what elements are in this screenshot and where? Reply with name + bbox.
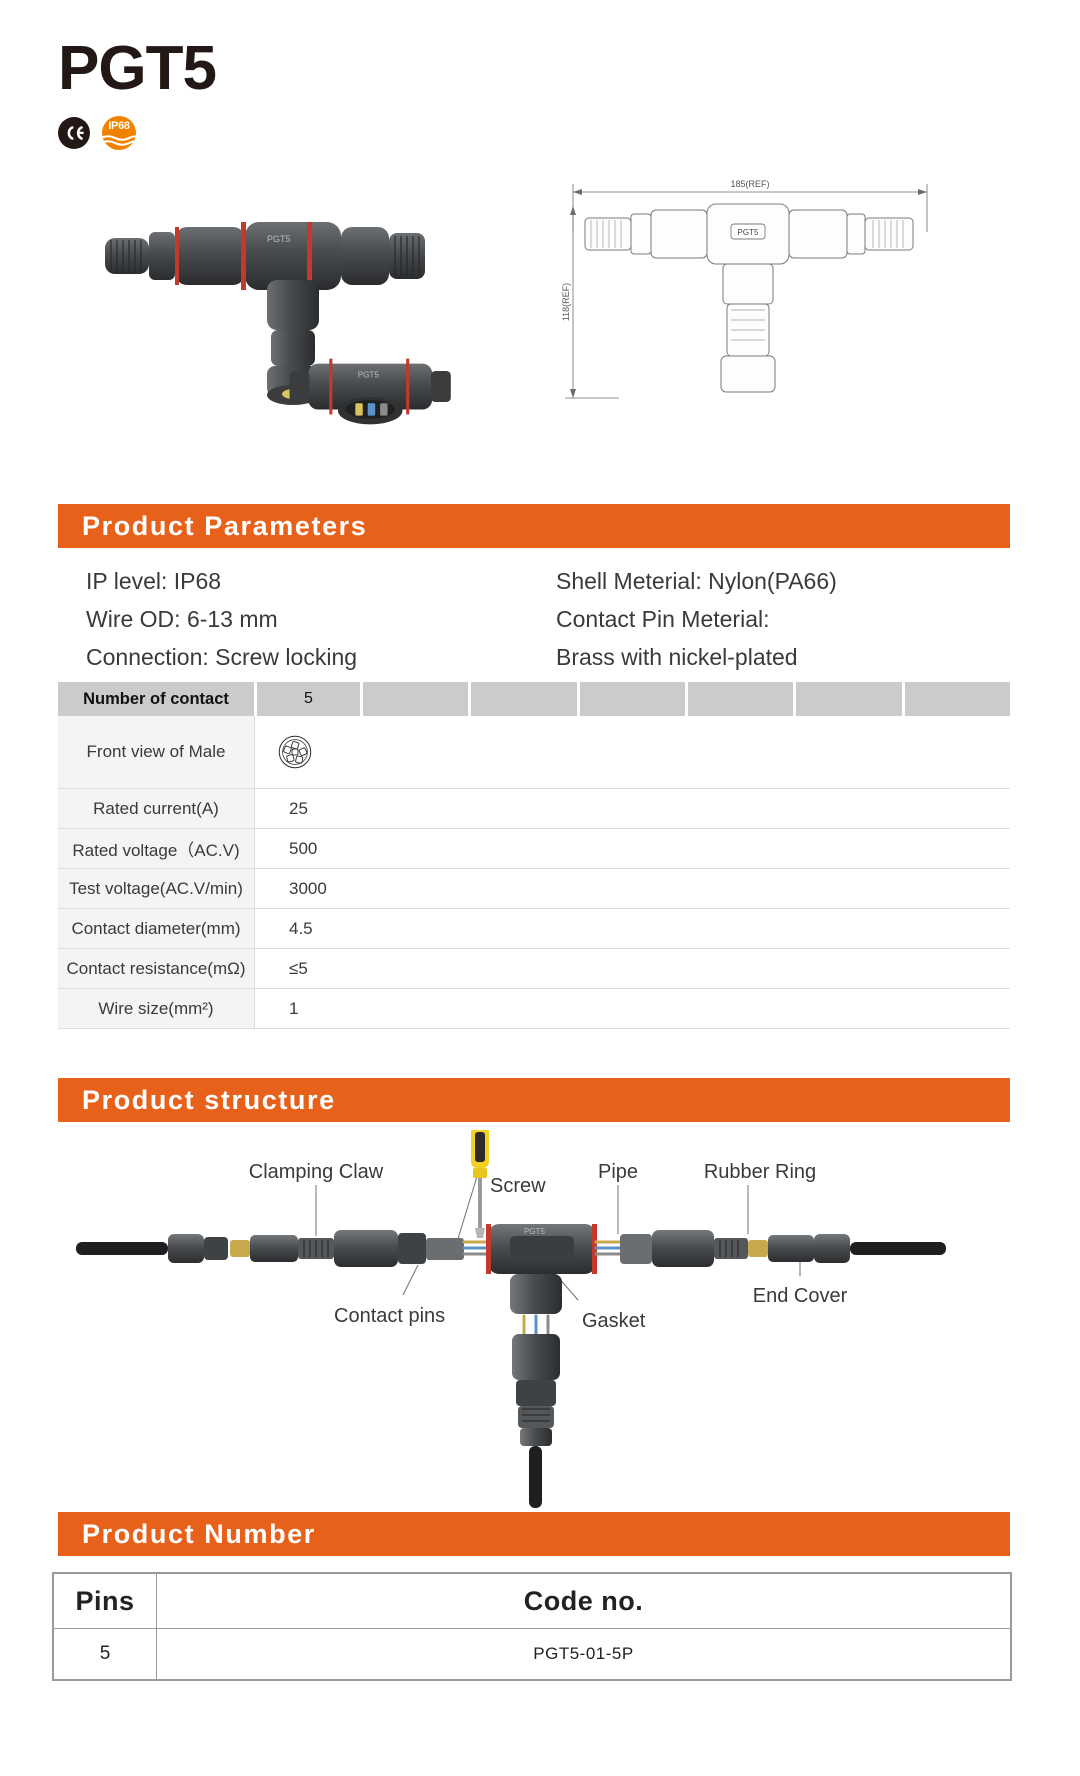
table-row: 5 PGT5-01-5P xyxy=(54,1629,1011,1680)
param-connection: Connection: Screw locking xyxy=(58,638,528,676)
header-empty-cell xyxy=(905,682,1010,716)
table-row: Rated voltage（AC.V) 500 xyxy=(58,829,1010,869)
row-value-front-view xyxy=(255,716,1010,788)
header-empty-cell xyxy=(796,682,901,716)
header-contact-count: 5 xyxy=(257,682,360,716)
section-header-parameters: Product Parameters xyxy=(58,504,1010,548)
param-shell-material: Shell Meterial: Nylon(PA66) xyxy=(528,562,1010,600)
svg-text:PGT5: PGT5 xyxy=(358,370,380,379)
table-row: Contact resistance(mΩ) ≤5 xyxy=(58,949,1010,989)
callout-clamping-claw: Clamping Claw xyxy=(249,1161,384,1183)
ip68-label: IP68 xyxy=(102,120,136,132)
dimension-drawing: 185(REF) 118(REF) xyxy=(555,170,955,420)
row-label-wire-size: Wire size(mm²) xyxy=(58,989,255,1028)
row-value-rated-voltage: 500 xyxy=(255,829,1010,868)
param-contact-pin-material-cont: Brass with nickel-plated xyxy=(528,638,1010,676)
structure-diagram: PGT5 xyxy=(58,1130,1010,1510)
callout-pipe: Pipe xyxy=(598,1161,638,1183)
svg-text:PGT5: PGT5 xyxy=(524,1227,545,1236)
structure-illustration: PGT5 xyxy=(58,1130,1010,1510)
table-row: Test voltage(AC.V/min) 3000 xyxy=(58,869,1010,909)
title-block: PGT5 IP68 xyxy=(58,38,216,150)
row-value-contact-diameter: 4.5 xyxy=(255,909,1010,948)
cell-code-no: PGT5-01-5P xyxy=(157,1629,1011,1680)
ce-icon xyxy=(58,117,90,149)
certification-badges: IP68 xyxy=(58,116,216,150)
product-number-header-row: Pins Code no. xyxy=(54,1574,1011,1629)
cell-pins: 5 xyxy=(54,1629,157,1680)
page-title: PGT5 xyxy=(58,38,216,100)
row-value-wire-size: 1 xyxy=(255,989,1010,1028)
header-empty-cell xyxy=(580,682,685,716)
callout-rubber-ring: Rubber Ring xyxy=(704,1161,816,1183)
row-label-rated-voltage: Rated voltage（AC.V) xyxy=(58,829,255,868)
header-empty-cell xyxy=(471,682,576,716)
param-wire-od: Wire OD: 6-13 mm xyxy=(58,600,528,638)
callout-contact-pins: Contact pins xyxy=(334,1305,445,1327)
column-header-pins: Pins xyxy=(54,1574,157,1629)
screwdriver-icon xyxy=(471,1130,489,1238)
callout-end-cover: End Cover xyxy=(753,1285,848,1307)
drawing-body-mark: PGT5 xyxy=(738,228,759,237)
row-value-rated-current: 25 xyxy=(255,789,1010,828)
section-title-parameters: Product Parameters xyxy=(58,511,367,542)
row-label-contact-diameter: Contact diameter(mm) xyxy=(58,909,255,948)
ip68-icon: IP68 xyxy=(102,116,136,150)
header-empty-cell xyxy=(363,682,468,716)
section-title-structure: Product structure xyxy=(58,1085,336,1116)
row-value-contact-resistance: ≤5 xyxy=(255,949,1010,988)
row-label-front-view: Front view of Male xyxy=(58,716,255,788)
product-photo: PGT5 PGT5 xyxy=(45,180,485,450)
contacts-table-header-row: Number of contact 5 xyxy=(58,682,1010,716)
table-row: Front view of Male xyxy=(58,716,1010,789)
contacts-table: Number of contact 5 Front view of Male xyxy=(58,682,1010,1029)
row-label-contact-resistance: Contact resistance(mΩ) xyxy=(58,949,255,988)
table-row: Contact diameter(mm) 4.5 xyxy=(58,909,1010,949)
section-header-number: Product Number xyxy=(58,1512,1010,1556)
datasheet-page: PGT5 IP68 xyxy=(0,0,1080,1776)
table-row: Rated current(A) 25 xyxy=(58,789,1010,829)
section-header-structure: Product structure xyxy=(58,1078,1010,1122)
parameters-list: IP level: IP68 Shell Meterial: Nylon(PA6… xyxy=(58,562,1010,676)
svg-text:PGT5: PGT5 xyxy=(267,234,291,244)
dim-height-label: 118(REF) xyxy=(561,283,571,321)
table-row: Wire size(mm²) 1 xyxy=(58,989,1010,1029)
product-number-table: Pins Code no. 5 PGT5-01-5P xyxy=(52,1572,1012,1681)
section-title-number: Product Number xyxy=(58,1519,316,1550)
header-empty-cell xyxy=(688,682,793,716)
row-label-test-voltage: Test voltage(AC.V/min) xyxy=(58,869,255,908)
param-contact-pin-material: Contact Pin Meterial: xyxy=(528,600,1010,638)
row-label-rated-current: Rated current(A) xyxy=(58,789,255,828)
hero-images: PGT5 PGT5 xyxy=(0,170,1080,450)
row-value-test-voltage: 3000 xyxy=(255,869,1010,908)
callout-screw: Screw xyxy=(490,1175,546,1197)
header-number-of-contact: Number of contact xyxy=(58,682,254,716)
pin-layout-5-icon xyxy=(277,734,313,770)
callout-gasket: Gasket xyxy=(582,1310,646,1332)
column-header-code: Code no. xyxy=(157,1574,1011,1629)
dim-width-label: 185(REF) xyxy=(730,179,769,189)
param-ip-level: IP level: IP68 xyxy=(58,562,528,600)
